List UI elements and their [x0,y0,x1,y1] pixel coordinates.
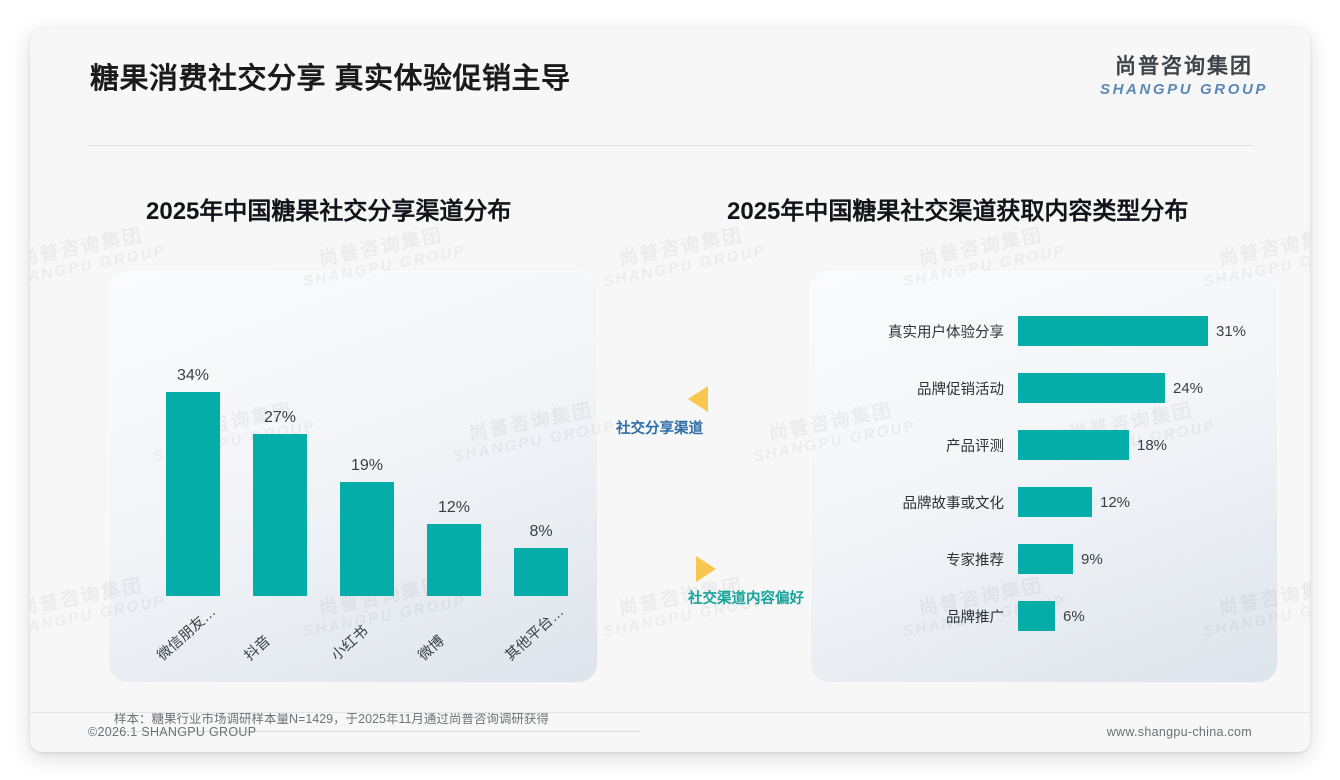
logo-chinese-text: 尚普咨询集团 [1100,56,1268,77]
bar-row[interactable]: 真实用户体验分享31% [810,315,1278,347]
bar[interactable] [1018,487,1092,517]
bar[interactable] [1018,601,1055,631]
bar-value-label: 8% [508,523,574,541]
slide-header: 糖果消费社交分享 真实体验促销主导 尚普咨询集团 SHANGPU GROUP [30,28,1310,118]
bar-category-label: 其他平台… [500,601,568,665]
bar-row[interactable]: 品牌故事或文化12% [810,486,1278,518]
bar-value-label: 18% [1129,437,1167,454]
triangle-right-icon [696,556,716,582]
bar-row[interactable]: 品牌促销活动24% [810,372,1278,404]
bar-column[interactable] [421,524,487,596]
annotation-content-preference: 社交渠道内容偏好 [688,556,804,608]
annotation-left-label: 社交分享渠道 [616,417,708,438]
bar-column[interactable] [508,548,574,596]
vertical-bar-chart: 34%微信朋友…27%抖音19%小红书12%微博8%其他平台… [108,271,598,683]
bar-row[interactable]: 产品评测18% [810,429,1278,461]
bar-category-label: 微博 [413,630,449,665]
slide-footer: ©2026.1 SHANGPU GROUP www.shangpu-china.… [30,712,1310,752]
bar-category-label: 品牌推广 [810,606,1018,627]
bar-row[interactable]: 专家推荐9% [810,543,1278,575]
bar-category-label: 产品评测 [810,435,1018,456]
brand-logo: 尚普咨询集团 SHANGPU GROUP [1100,56,1268,97]
bar[interactable] [514,548,568,596]
bar-value-label: 12% [421,499,487,517]
website-link[interactable]: www.shangpu-china.com [1107,725,1252,739]
bar[interactable] [1018,544,1073,574]
triangle-left-icon [688,386,708,412]
horizontal-bar-chart: 真实用户体验分享31%品牌促销活动24%产品评测18%品牌故事或文化12%专家推… [810,271,1278,683]
bar-value-label: 24% [1165,380,1203,397]
bar-category-label: 品牌促销活动 [810,378,1018,399]
bar[interactable] [427,524,481,596]
bar-category-label: 小红书 [326,620,372,665]
chart-title-left: 2025年中国糖果社交分享渠道分布 [146,191,511,226]
watermark: 尚普咨询集团SHANGPU GROUP [598,223,767,291]
bar-value-label: 31% [1208,323,1246,340]
annotation-right-label: 社交渠道内容偏好 [688,587,804,608]
logo-english-text: SHANGPU GROUP [1100,82,1268,97]
chart-title-right: 2025年中国糖果社交渠道获取内容类型分布 [727,191,1188,226]
bar[interactable] [166,392,220,596]
bar[interactable] [1018,316,1208,346]
slide-canvas: 糖果消费社交分享 真实体验促销主导 尚普咨询集团 SHANGPU GROUP 2… [30,28,1310,752]
bar-row[interactable]: 品牌推广6% [810,600,1278,632]
bar[interactable] [1018,430,1129,460]
bar-column[interactable] [334,482,400,596]
annotation-social-share-channel: 社交分享渠道 [616,386,708,438]
bar-category-label: 抖音 [239,630,275,665]
bar-category-label: 品牌故事或文化 [810,492,1018,513]
bar-value-label: 19% [334,457,400,475]
bar-column[interactable] [247,434,313,596]
bar-value-label: 6% [1055,608,1085,625]
bar-value-label: 27% [247,409,313,427]
bar[interactable] [253,434,307,596]
bar-category-label: 微信朋友… [152,601,220,665]
bar-category-label: 专家推荐 [810,549,1018,570]
bar-value-label: 9% [1073,551,1103,568]
bar-value-label: 12% [1092,494,1130,511]
bar[interactable] [1018,373,1165,403]
bar-column[interactable] [160,392,226,596]
copyright-text: ©2026.1 SHANGPU GROUP [88,725,256,739]
header-divider [88,145,1254,146]
bar-value-label: 34% [160,367,226,385]
bar-category-label: 真实用户体验分享 [810,321,1018,342]
bar[interactable] [340,482,394,596]
page-title: 糖果消费社交分享 真实体验促销主导 [90,55,571,97]
